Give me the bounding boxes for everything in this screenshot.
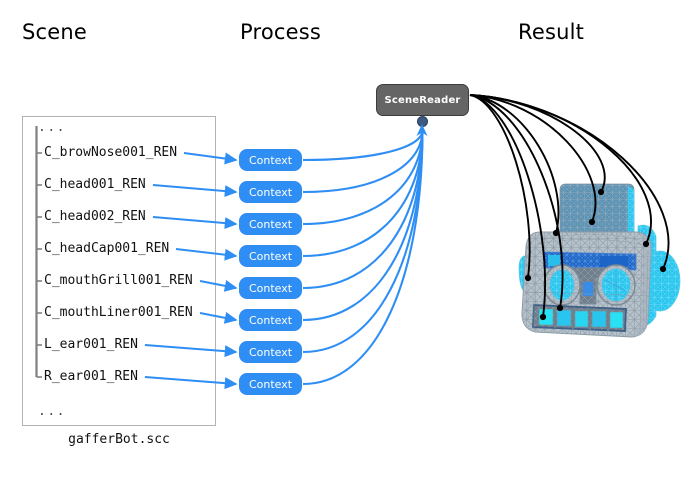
model-wire-right-ear-b — [470, 95, 668, 269]
model-wire-head-top — [470, 95, 558, 233]
model-wire-right-ear-a — [470, 95, 651, 244]
model-endpoint-head-cap — [598, 189, 604, 195]
scene-ellipsis-bottom: ... — [38, 404, 66, 419]
context-node-1[interactable]: Context — [239, 181, 302, 203]
model-endpoint-right-ear-b — [660, 266, 666, 272]
model-endpoint-mouth-liner — [540, 314, 546, 320]
scene-ellipsis-top: ... — [38, 120, 66, 135]
context-to-scenereader-wire-6 — [303, 130, 423, 352]
context-node-2[interactable]: Context — [239, 213, 302, 235]
scene-item-7[interactable]: R_ear001_REN — [44, 368, 138, 386]
model-wire-mouth-grill — [470, 95, 563, 308]
context-node-6[interactable]: Context — [239, 341, 302, 363]
model-endpoint-mouth-grill — [557, 305, 563, 311]
model-wire-mouth-liner — [470, 95, 545, 317]
context-to-scenereader-wire-1 — [303, 130, 423, 192]
column-title-result: Result — [518, 20, 584, 44]
context-to-scenereader-wire-2 — [303, 130, 423, 224]
context-node-4[interactable]: Context — [239, 277, 302, 299]
context-to-scenereader-wires — [303, 130, 423, 384]
model-endpoint-right-ear-a — [643, 241, 649, 247]
context-to-scenereader-wire-3 — [303, 130, 423, 256]
context-node-5[interactable]: Context — [239, 309, 302, 331]
gafferbot-head-model — [519, 184, 680, 337]
scene-item-4[interactable]: C_mouthGrill001_REN — [44, 272, 193, 290]
scene-item-3[interactable]: C_headCap001_REN — [44, 240, 169, 258]
model-wire-head-cap — [470, 95, 605, 192]
scene-item-6[interactable]: L_ear001_REN — [44, 336, 138, 354]
context-to-scenereader-wire-5 — [303, 130, 423, 320]
model-wire-brow-nose — [470, 95, 595, 222]
context-to-scenereader-wire-4 — [303, 130, 423, 288]
context-node-0[interactable]: Context — [239, 149, 302, 171]
scene-item-0[interactable]: C_browNose001_REN — [44, 144, 177, 162]
column-title-scene: Scene — [22, 20, 87, 44]
scene-file-caption: gafferBot.scc — [22, 432, 216, 447]
scenereader-output-plug-icon[interactable] — [417, 116, 428, 127]
scenereader-to-model-wires — [470, 95, 668, 317]
model-endpoint-head-top — [553, 230, 559, 236]
model-endpoint-left-ear — [525, 275, 531, 281]
model-wire-endpoints — [525, 189, 666, 320]
context-node-7[interactable]: Context — [239, 373, 302, 395]
model-endpoint-brow-nose — [589, 219, 595, 225]
context-to-scenereader-wire-0 — [303, 130, 423, 160]
column-title-process: Process — [240, 20, 321, 44]
scenereader-node[interactable]: SceneReader — [376, 84, 469, 116]
scenereader-label: SceneReader — [384, 95, 460, 106]
scene-item-5[interactable]: C_mouthLiner001_REN — [44, 304, 193, 322]
model-wire-left-ear — [470, 95, 530, 278]
scene-item-1[interactable]: C_head001_REN — [44, 176, 146, 194]
scene-item-2[interactable]: C_head002_REN — [44, 208, 146, 226]
context-to-scenereader-wire-7 — [303, 130, 423, 384]
diagram-canvas: Scene Process Result ... ... C_browNose0… — [0, 0, 696, 500]
context-node-3[interactable]: Context — [239, 245, 302, 267]
